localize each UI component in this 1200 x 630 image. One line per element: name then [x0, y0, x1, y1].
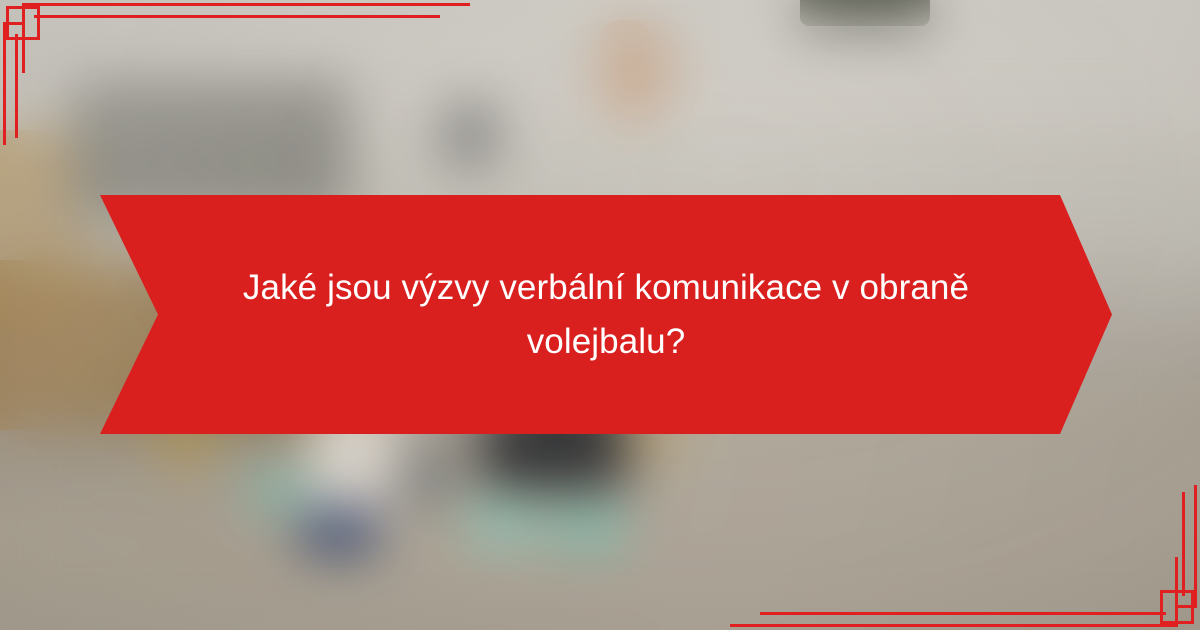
headline-text: Jaké jsou výzvy verbální komunikace v ob… [220, 261, 992, 367]
social-card: Jaké jsou výzvy verbální komunikace v ob… [0, 0, 1200, 630]
headline-banner: Jaké jsou výzvy verbální komunikace v ob… [100, 195, 1112, 434]
